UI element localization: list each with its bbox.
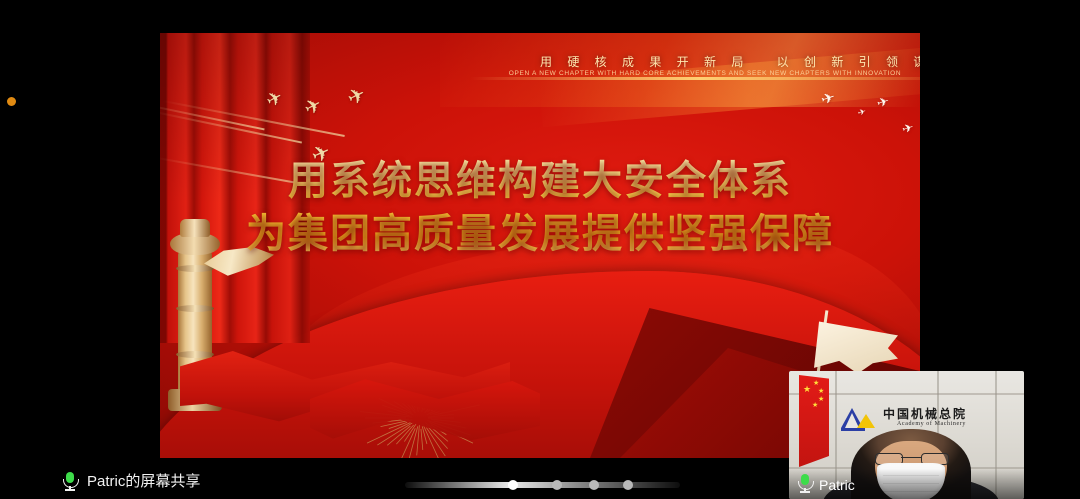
org-name-english: Academy of Machinery — [897, 421, 966, 427]
slide-title-line-1: 用系统思维构建大安全体系 — [160, 155, 920, 208]
screen-share-status: Patric的屏幕共享 — [62, 470, 200, 491]
page-indicator-rail[interactable] — [405, 482, 680, 488]
glasses-icon — [875, 453, 947, 463]
slide-title: 用系统思维构建大安全体系 为集团高质量发展提供坚强保障 — [160, 155, 920, 261]
airplane-icon: ✈ — [344, 83, 369, 110]
participant-name-label: Patric — [819, 477, 855, 493]
screen-share-presenter-label: Patric的屏幕共享 — [87, 470, 200, 491]
participant-video-tile[interactable]: ★ ★ ★ ★ ★ 中国机械总院 Academy of Machinery — [789, 371, 1024, 499]
dove-icon: ✈ — [875, 95, 891, 110]
page-dot[interactable] — [552, 480, 562, 490]
dove-icon: ✈ — [901, 121, 916, 135]
china-flag-icon: ★ ★ ★ ★ ★ — [799, 375, 829, 467]
screen-share-viewer: 用 硬 核 成 果 开 新 局 以 创 新 引 领 谋 新 篇 OPEN A N… — [0, 0, 1080, 499]
triangle-mountain-logo-icon — [841, 406, 877, 432]
participant-microphone-icon[interactable] — [797, 473, 813, 493]
slide-title-line-2: 为集团高质量发展提供坚强保障 — [160, 208, 920, 261]
slide-banner-chinese: 用 硬 核 成 果 开 新 局 以 创 新 引 领 谋 新 篇 — [540, 53, 910, 70]
page-dot[interactable] — [623, 480, 633, 490]
banner-rule — [470, 77, 920, 80]
slide-banner-english: OPEN A NEW CHAPTER WITH HARD CORE ACHIEV… — [500, 70, 910, 77]
page-dot[interactable] — [508, 480, 518, 490]
microphone-icon[interactable] — [62, 471, 78, 491]
orange-dot — [7, 97, 16, 106]
org-name-chinese: 中国机械总院 — [883, 405, 967, 422]
page-dot[interactable] — [589, 480, 599, 490]
dove-icon: ✈ — [857, 108, 867, 118]
